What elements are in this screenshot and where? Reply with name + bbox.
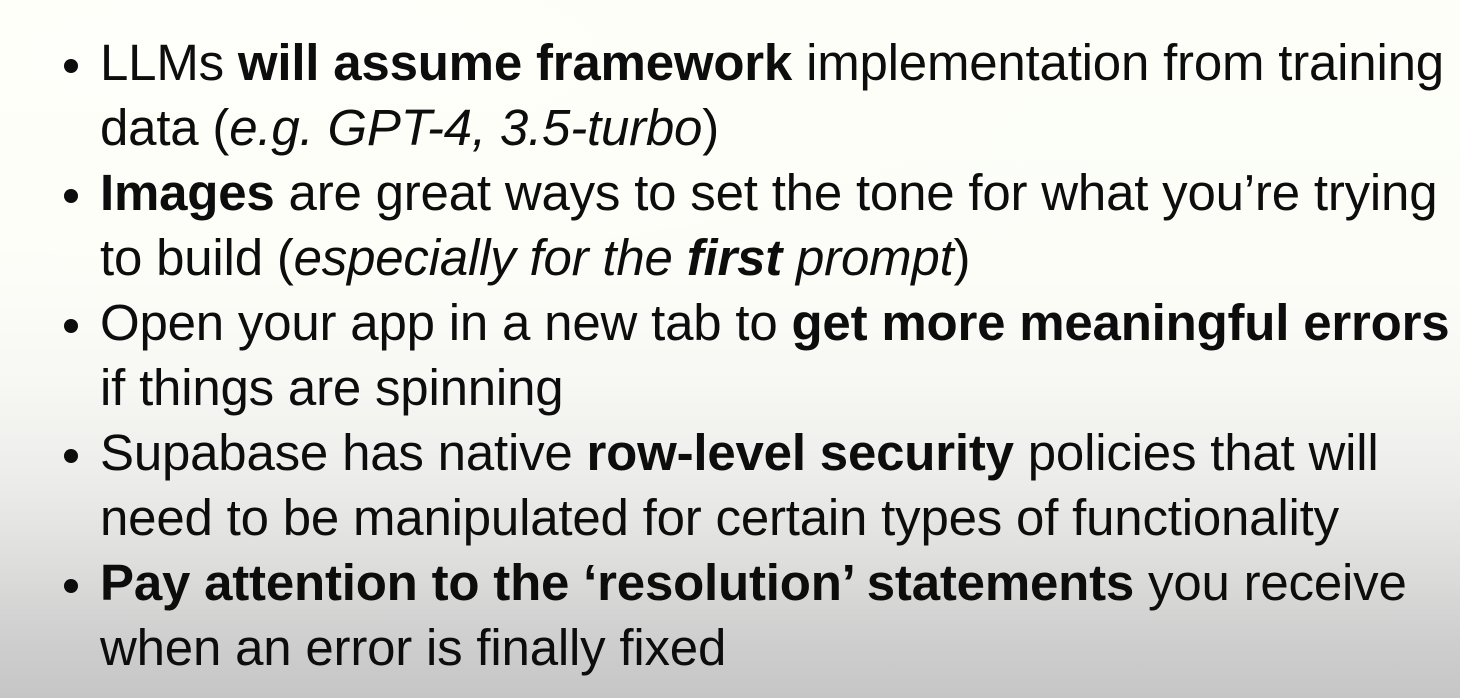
bullet-text: Pay attention to the ‘resolution’ statem… bbox=[100, 554, 1421, 676]
bullet-list: LLMs will assume framework implementatio… bbox=[0, 0, 1460, 680]
text-run-bold: Images bbox=[100, 164, 275, 221]
text-run-italic: e.g. GPT-4, 3.5-turbo bbox=[229, 99, 702, 156]
text-run-normal: Supabase has native bbox=[100, 424, 587, 481]
bullet-point-icon bbox=[64, 30, 81, 95]
bullet-llms-assume-framework: LLMs will assume framework implementatio… bbox=[0, 30, 1460, 160]
bullet-point-icon bbox=[64, 420, 81, 485]
slide-canvas: LLMs will assume framework implementatio… bbox=[0, 0, 1460, 698]
bullet-supabase-row-level-security: Supabase has native row-level security p… bbox=[0, 420, 1460, 550]
bullet-resolution-statements: Pay attention to the ‘resolution’ statem… bbox=[0, 550, 1460, 680]
bullet-point-icon bbox=[64, 290, 81, 355]
bullet-point-icon bbox=[64, 160, 81, 225]
bullet-images-set-tone: Images are great ways to set the tone fo… bbox=[0, 160, 1460, 290]
text-run-bold: Pay attention to the ‘resolution’ statem… bbox=[100, 554, 1134, 611]
text-run-bold: will assume framework bbox=[238, 34, 792, 91]
text-run-bold: row-level security bbox=[587, 424, 1014, 481]
bullet-text: Open your app in a new tab to get more m… bbox=[100, 294, 1460, 416]
bullet-open-app-new-tab: Open your app in a new tab to get more m… bbox=[0, 290, 1460, 420]
text-run-italic: especially for the bbox=[294, 229, 687, 286]
bullet-point-icon bbox=[64, 550, 81, 615]
text-run-italic: prompt bbox=[782, 229, 954, 286]
text-run-normal: ) bbox=[954, 229, 971, 286]
text-run-bold: get more meaningful errors bbox=[791, 294, 1449, 351]
text-run-normal: LLMs bbox=[100, 34, 238, 91]
bullet-text: Images are great ways to set the tone fo… bbox=[100, 164, 1451, 286]
text-run-normal: ) bbox=[702, 99, 719, 156]
text-run-normal: Open your app in a new tab to bbox=[100, 294, 791, 351]
bullet-text: Supabase has native row-level security p… bbox=[100, 424, 1392, 546]
bullet-text: LLMs will assume framework implementatio… bbox=[100, 34, 1458, 156]
text-run-bolditalic: first bbox=[687, 229, 782, 286]
